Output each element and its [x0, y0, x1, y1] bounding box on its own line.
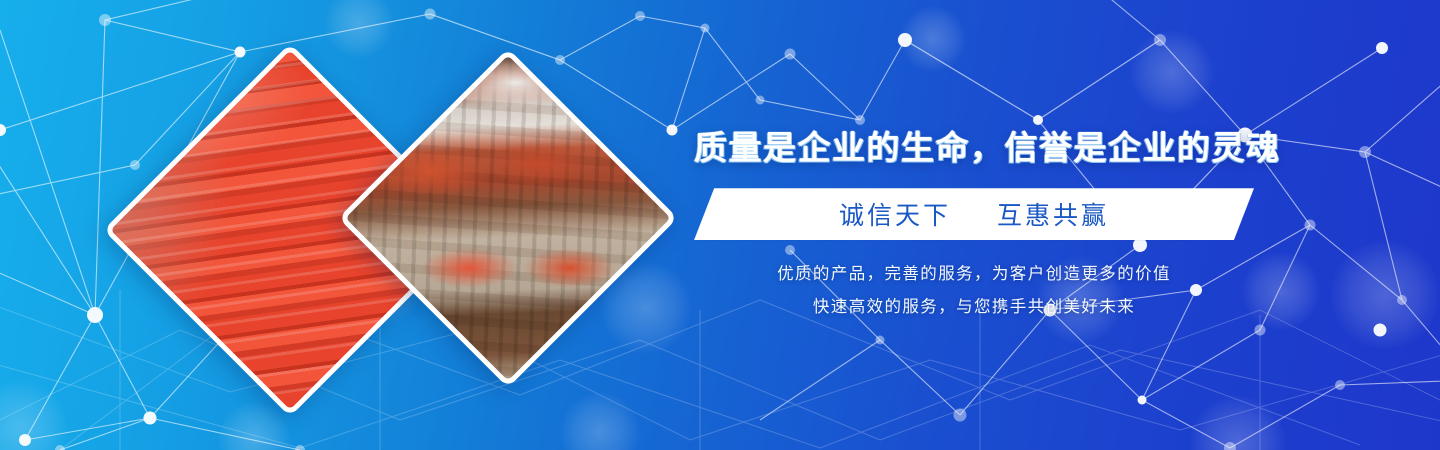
banner-headline: 质量是企业的生命，信誉是企业的灵魂 [694, 128, 1254, 168]
slogan-left: 诚信天下 [839, 202, 951, 230]
slogan-ribbon-text: 诚信天下 互惠共赢 [839, 196, 1109, 232]
banner-copy: 质量是企业的生命，信誉是企业的灵魂 诚信天下 互惠共赢 优质的产品，完善的服务，… [694, 128, 1254, 324]
slogan-right: 互惠共赢 [997, 202, 1109, 230]
promo-banner: 质量是企业的生命，信誉是企业的灵魂 诚信天下 互惠共赢 优质的产品，完善的服务，… [0, 0, 1440, 450]
subtitle-line-2: 快速高效的服务，与您携手共创美好未来 [694, 291, 1254, 324]
subtitle-line-1: 优质的产品，完善的服务，为客户创造更多的价值 [694, 258, 1254, 291]
banner-subtitle: 优质的产品，完善的服务，为客户创造更多的价值 快速高效的服务，与您携手共创美好未… [694, 258, 1254, 324]
slogan-ribbon: 诚信天下 互惠共赢 [694, 188, 1254, 240]
